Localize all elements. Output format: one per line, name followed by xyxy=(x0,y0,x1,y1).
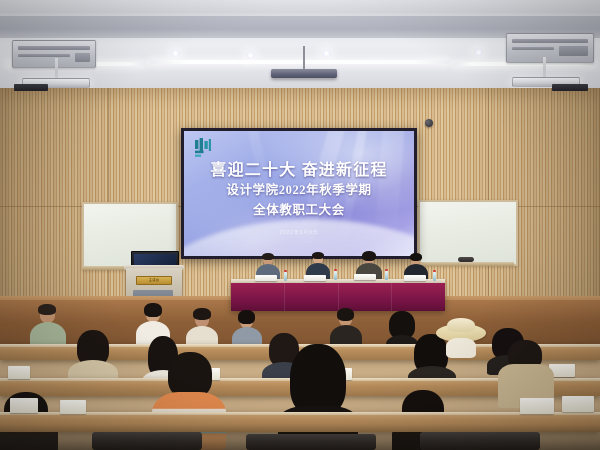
desk-row-front xyxy=(0,412,600,432)
head-table-skirt xyxy=(231,283,445,311)
wall-lamp-stem xyxy=(55,58,58,80)
handout xyxy=(10,398,38,413)
table-name-card xyxy=(304,275,326,281)
water-bottle xyxy=(433,272,436,281)
attendee-hair xyxy=(38,304,56,315)
slide-headline: 喜迎二十大 奋进新征程 xyxy=(184,156,414,180)
panelist-hair xyxy=(262,253,274,260)
water-bottle-cap xyxy=(334,269,337,271)
desk-row-front-edge xyxy=(0,412,600,415)
attendee-torso xyxy=(446,338,476,358)
panelist-hair xyxy=(362,251,376,261)
security-camera-icon xyxy=(425,119,433,127)
ceiling-projector xyxy=(271,69,337,78)
wall-lamp-stem xyxy=(543,57,546,79)
projection-screen-frame: 喜迎二十大 奋进新征程 设计学院2022年秋季学期 全体教职工大会 2022年9… xyxy=(181,128,417,259)
attendee-far-3 xyxy=(186,310,218,348)
table-name-card xyxy=(404,275,426,281)
ceiling-ac-unit xyxy=(506,33,594,63)
attendee-mid-1 xyxy=(68,330,118,384)
handout xyxy=(520,398,554,414)
ceiling-light-strip xyxy=(150,60,450,64)
handout xyxy=(60,400,86,414)
whiteboard-right-tray xyxy=(418,262,514,266)
lecture-hall-photo: 喜迎二十大 奋进新征程 设计学院2022年秋季学期 全体教职工大会 2022年9… xyxy=(0,0,600,450)
wall-speaker xyxy=(14,84,48,91)
ceiling-upper-band xyxy=(0,0,600,13)
ceiling-ac-unit xyxy=(12,40,96,68)
slide-subtitle-two: 全体教职工大会 xyxy=(184,199,414,218)
table-name-card xyxy=(255,275,277,281)
seat-back xyxy=(92,432,202,450)
attendee-hair xyxy=(337,308,354,321)
straw-hat-crown xyxy=(447,318,475,332)
panelist-hair xyxy=(312,252,324,259)
attendee-hair xyxy=(193,308,211,320)
attendee-hair xyxy=(144,303,162,317)
attendee-hair xyxy=(238,310,255,324)
whiteboard-marker xyxy=(458,257,474,262)
ceiling xyxy=(0,0,600,96)
panelist-hair xyxy=(410,253,422,261)
water-bottle xyxy=(334,271,337,280)
attendee-far-1 xyxy=(30,306,66,348)
handout xyxy=(8,366,30,379)
water-bottle-cap xyxy=(284,270,287,272)
table-name-card xyxy=(354,274,376,280)
attendee-far-4 xyxy=(232,312,262,348)
seat-back xyxy=(420,432,540,450)
attendee-far-5 xyxy=(330,310,362,348)
slide-date: 2022年9月8日 xyxy=(184,229,414,236)
attendee-with-straw-hat xyxy=(432,318,488,362)
downlight xyxy=(171,50,180,57)
water-bottle-cap xyxy=(433,270,436,272)
downlight xyxy=(246,52,255,59)
seat-back xyxy=(246,434,376,450)
water-bottle-cap xyxy=(385,269,388,271)
slide-subtitle-one: 设计学院2022年秋季学期 xyxy=(184,179,414,198)
downlight xyxy=(474,49,483,56)
projector-mount-rod xyxy=(303,46,305,70)
handout xyxy=(562,396,594,412)
lectern-nameplate: 主讲台 xyxy=(136,276,172,285)
projection-screen: 喜迎二十大 奋进新征程 设计学院2022年秋季学期 全体教职工大会 2022年9… xyxy=(184,131,414,256)
wall-speaker xyxy=(552,84,588,91)
water-bottle xyxy=(284,272,287,281)
water-bottle xyxy=(385,271,388,280)
downlight xyxy=(322,50,331,57)
